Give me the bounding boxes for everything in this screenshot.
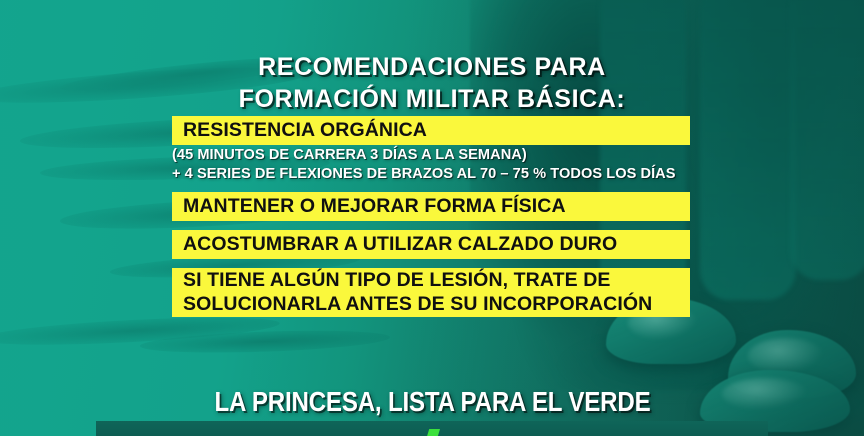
band-4-line-2: SOLUCIONARLA ANTES DE SU INCORPORACIÓN	[183, 293, 690, 317]
band-3-line-1: ACOSTUMBRAR A UTILIZAR CALZADO DURO	[183, 233, 690, 257]
subtext-block: (45 MINUTOS DE CARRERA 3 DÍAS A LA SEMAN…	[172, 146, 812, 185]
highlight-band-lesion: SI TIENE ALGÚN TIPO DE LESIÓN, TRATE DE …	[172, 268, 690, 317]
highlight-band-calzado-duro: ACOSTUMBRAR A UTILIZAR CALZADO DURO	[172, 230, 690, 259]
subtext-line-2: + 4 SERIES DE FLEXIONES DE BRAZOS AL 70 …	[172, 165, 812, 184]
highlight-band-forma-fisica: MANTENER O MEJORAR FORMA FÍSICA	[172, 192, 690, 221]
highlight-band-resistencia: RESISTENCIA ORGÁNICA	[172, 116, 690, 145]
subtext-line-1: (45 MINUTOS DE CARRERA 3 DÍAS A LA SEMAN…	[172, 146, 812, 165]
band-1-line-1: RESISTENCIA ORGÁNICA	[183, 119, 690, 143]
bottom-bar	[96, 421, 768, 436]
broadcast-graphic-stage: RECOMENDACIONES PARA FORMACIÓN MILITAR B…	[0, 0, 864, 436]
band-4-line-1: SI TIENE ALGÚN TIPO DE LESIÓN, TRATE DE	[183, 269, 690, 293]
green-parallelogram-logo-icon	[425, 429, 440, 436]
band-2-line-1: MANTENER O MEJORAR FORMA FÍSICA	[183, 195, 690, 219]
